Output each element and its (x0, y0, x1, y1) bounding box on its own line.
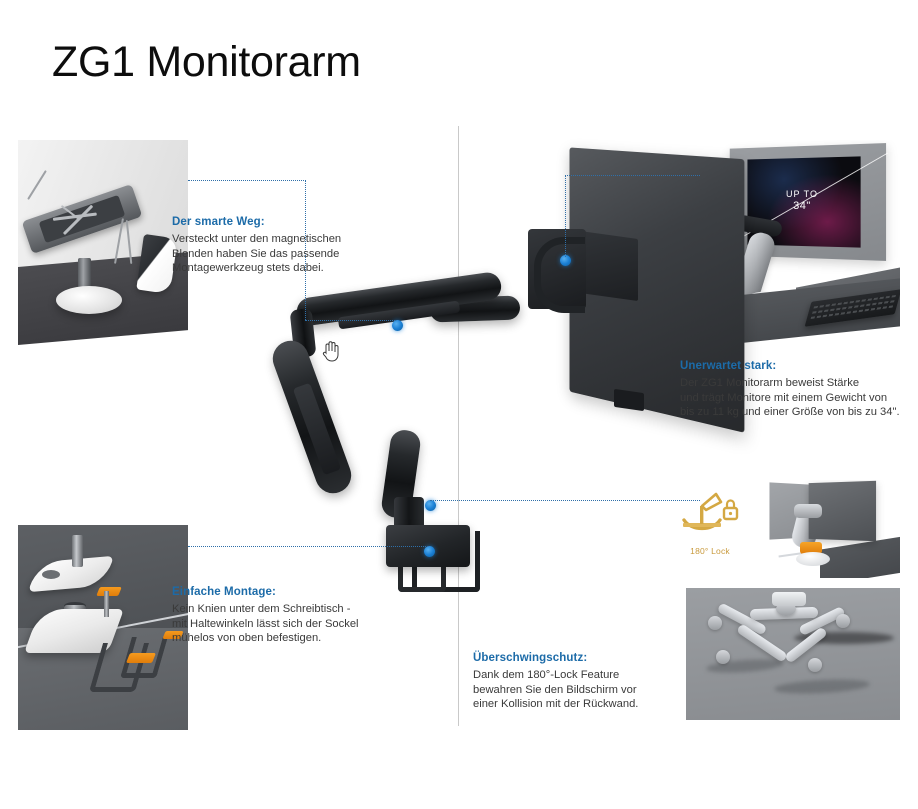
arm-joint (808, 658, 822, 672)
connector-line-overswing-horizontal (430, 500, 700, 501)
callout-assembly-line-1: Kein Knien unter dem Schreibtisch - (172, 602, 372, 617)
screen-size-overlay: UP TO 34" (772, 188, 832, 212)
monitor-arm-base (796, 552, 830, 566)
callout-easy-assembly: Einfache Montage: Kein Knien unter dem S… (172, 586, 372, 646)
arm-hinge (794, 504, 822, 518)
connector-line-smart-way-to-hotspot (305, 320, 395, 321)
callout-overswing-line-2: bewahren Sie den Bildschirm vor (473, 683, 663, 698)
connector-line-strong-vertical (565, 175, 566, 257)
page-title: ZG1 Monitorarm (52, 38, 361, 87)
screen-overlay-line-2: 34" (772, 200, 832, 212)
callout-assembly-heading: Einfache Montage: (172, 586, 372, 598)
callout-overswing-line-1: Dank dem 180°-Lock Feature (473, 668, 663, 683)
connector-line-strong-horizontal (565, 175, 700, 176)
callout-overswing-line-3: einer Kollision mit der Rückwand. (473, 697, 663, 712)
callout-unexpectedly-strong: Unerwartet stark: Der ZG1 Monitorarm bew… (680, 360, 905, 420)
callout-strong-line-1: Der ZG1 Monitorarm beweist Stärke (680, 376, 905, 391)
hero-product-monitor-arm (290, 225, 630, 595)
callout-strong-heading: Unerwartet stark: (680, 360, 905, 372)
arm-joint (836, 614, 850, 628)
180-lock-icon (676, 490, 744, 542)
photo-magnetic-cover-tools (18, 140, 188, 345)
hotspot-upper-arm[interactable] (392, 320, 403, 331)
callout-smart-way-line-3: Montagewerkzeug stets dabei. (172, 261, 347, 276)
infographic-page: ZG1 Monitorarm (0, 0, 918, 809)
photo-top-down-reach (686, 588, 900, 720)
clamp-screw (104, 591, 109, 617)
arm-joint (716, 650, 730, 664)
hotspot-post[interactable] (425, 500, 436, 511)
photo-clamp-exploded-view (18, 525, 188, 730)
monitor-port-cover (614, 389, 644, 411)
arm-joint (708, 616, 722, 630)
connector-line-assembly-horizontal (188, 546, 428, 547)
lock-180-label: 180° Lock (676, 546, 744, 556)
center-bolt (72, 535, 83, 567)
orange-handle-icon (96, 587, 122, 596)
connector-line-smart-way-horizontal (188, 180, 306, 181)
callout-smart-way-line-2: Blenden haben Sie das passende (172, 247, 347, 262)
callout-strong-line-3: bis zu 11 kg und einer Größe von bis zu … (680, 405, 905, 420)
callout-strong-line-2: und trägt Monitore mit einem Gewicht von (680, 391, 905, 406)
hotspot-clamp[interactable] (424, 546, 435, 557)
callout-assembly-line-2: mit Haltewinkeln lässt sich der Sockel (172, 617, 372, 632)
callout-smart-way-heading: Der smarte Weg: (172, 216, 347, 228)
hand-cursor-icon (322, 340, 341, 362)
callout-assembly-line-3: mühelos von oben befestigen. (172, 631, 372, 646)
callout-overswing-protection: Überschwingschutz: Dank dem 180°-Lock Fe… (473, 652, 663, 712)
monitor-vesa-plate (580, 231, 638, 301)
arm-base-disc (56, 286, 122, 314)
screen-overlay-line-1: UP TO (772, 188, 832, 200)
base-cover-hole (42, 570, 60, 579)
vesa-mount-clamp (534, 237, 585, 313)
arm-base-top (772, 592, 806, 606)
callout-smart-way-line-1: Versteckt unter den magnetischen (172, 232, 347, 247)
orange-handle-icon (126, 653, 156, 663)
desk-shaded-area (820, 534, 900, 578)
callout-overswing-heading: Überschwingschutz: (473, 652, 663, 664)
callout-smart-way: Der smarte Weg: Versteckt unter den magn… (172, 216, 347, 276)
